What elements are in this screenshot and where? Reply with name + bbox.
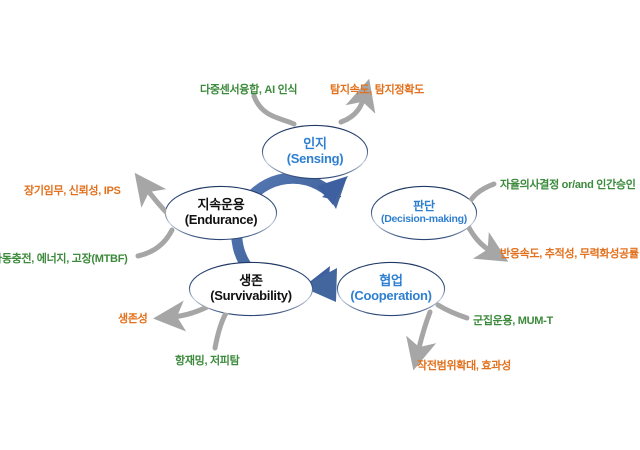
annotation-sensing-input: 다중센서융합, AI 인식: [200, 81, 297, 97]
node-cooperation-label-en: (Cooperation): [350, 289, 431, 304]
arrow-cooperation-input: [438, 305, 467, 318]
node-cooperation-label-ko: 협업: [379, 274, 403, 289]
annotation-cooperation-output: 작전범위확대, 효과성: [417, 357, 511, 373]
annotation-survivability-input: 항재밍, 저피탐: [175, 352, 239, 368]
node-endurance-label-en: (Endurance): [185, 213, 258, 228]
arrow-cooperation-output: [418, 312, 430, 352]
annotation-survivability-output: 생존성: [118, 310, 147, 326]
annotation-decision-input: 자율의사결정 or/and 인간승인: [500, 176, 636, 192]
arrow-endurance-output: [146, 188, 168, 214]
node-endurance[interactable]: 지속운용 (Endurance): [166, 187, 276, 239]
node-survivability-label-en: (Survivability): [210, 289, 291, 304]
node-cooperation[interactable]: 협업 (Cooperation): [338, 263, 444, 315]
node-sensing-label-ko: 인지: [303, 137, 327, 152]
node-survivability-label-ko: 생존: [239, 274, 263, 289]
node-sensing[interactable]: 인지 (Sensing): [263, 126, 367, 178]
annotation-endurance-input: 자동충전, 에너지, 고장(MTBF): [0, 250, 127, 266]
annotation-decision-output: 반응속도, 추적성, 무력화성공률: [500, 245, 639, 261]
annotation-endurance-output: 장기임무, 신뢰성, IPS: [24, 182, 121, 198]
node-decision-label-ko: 판단: [413, 200, 435, 213]
arrow-decision-input: [468, 184, 494, 205]
arrow-survivability-input: [215, 313, 226, 348]
node-sensing-label-en: (Sensing): [287, 152, 344, 167]
arrow-sensing-input: [254, 96, 294, 124]
annotation-sensing-output: 탐지속도, 탐지정확도: [330, 81, 424, 97]
annotation-cooperation-input: 군집운용, MUM-T: [473, 312, 553, 328]
node-decision-making[interactable]: 판단 (Decision-making): [372, 187, 476, 239]
node-endurance-label-ko: 지속운용: [197, 198, 244, 213]
node-decision-label-en: (Decision-making): [381, 214, 467, 226]
arrow-endurance-input: [138, 230, 172, 256]
node-survivability[interactable]: 생존 (Survivability): [190, 263, 312, 315]
diagram-canvas: 인지 (Sensing) 판단 (Decision-making) 협업 (Co…: [0, 0, 640, 450]
diagram-vector-layer: [0, 0, 640, 450]
arrow-sensing-output: [341, 97, 364, 122]
arrow-decision-output: [467, 224, 492, 252]
